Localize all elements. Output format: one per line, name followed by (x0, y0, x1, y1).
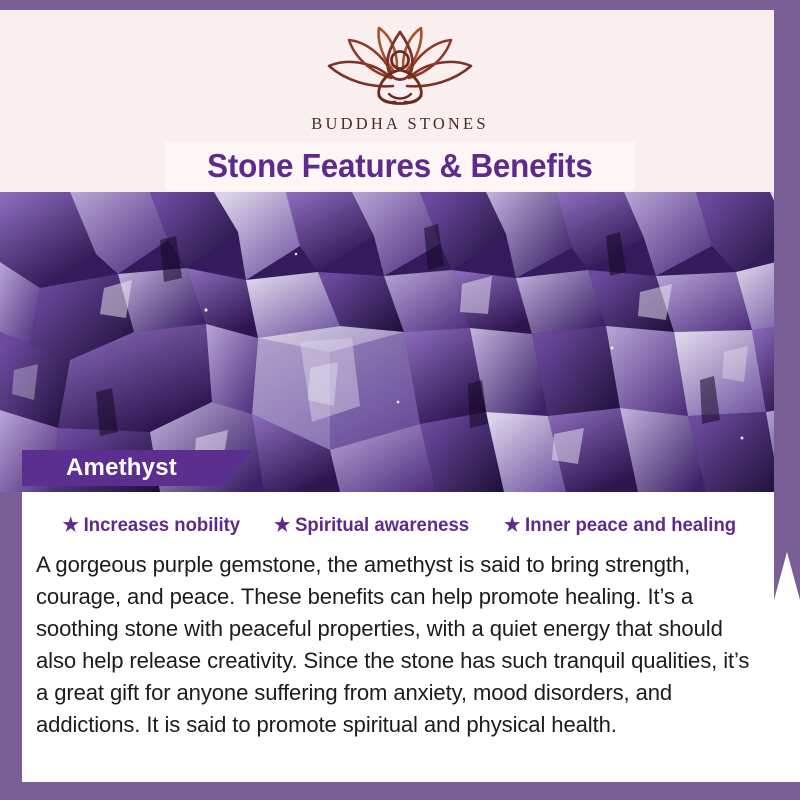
star-icon: ★ (63, 516, 79, 535)
benefit-item: ★ Inner peace and healing (504, 514, 736, 537)
brand-logo: BUDDHA STONES (0, 24, 800, 134)
content-section: ★ Increases nobility ★ Spiritual awarene… (0, 492, 800, 782)
star-icon: ★ (274, 516, 290, 535)
amethyst-photo (0, 192, 800, 492)
frame-band-left (0, 492, 22, 782)
stone-name: Amethyst (66, 454, 177, 482)
benefit-label: Increases nobility (84, 514, 240, 537)
benefit-label: Spiritual awareness (295, 514, 469, 537)
page-title: Stone Features & Benefits (207, 147, 592, 185)
stone-name-banner: Amethyst (22, 450, 252, 486)
header: BUDDHA STONES Stone Features & Benefits (0, 10, 800, 192)
benefit-label: Inner peace and healing (525, 514, 736, 537)
page-title-banner: Stone Features & Benefits (165, 142, 635, 190)
frame-band-right (774, 0, 800, 600)
benefits-list: ★ Increases nobility ★ Spiritual awarene… (0, 492, 800, 537)
star-icon: ★ (504, 516, 520, 535)
lotus-meditation-icon (315, 24, 485, 112)
stone-description: A gorgeous purple gemstone, the amethyst… (36, 549, 749, 741)
infographic-page: BUDDHA STONES Stone Features & Benefits (0, 0, 800, 800)
amethyst-crystal-cluster-graphic (0, 192, 800, 492)
frame-band-bottom (0, 782, 800, 800)
benefit-item: ★ Increases nobility (63, 514, 240, 537)
brand-name: BUDDHA STONES (0, 114, 800, 134)
benefit-item: ★ Spiritual awareness (274, 514, 469, 537)
frame-band-top (0, 0, 800, 10)
